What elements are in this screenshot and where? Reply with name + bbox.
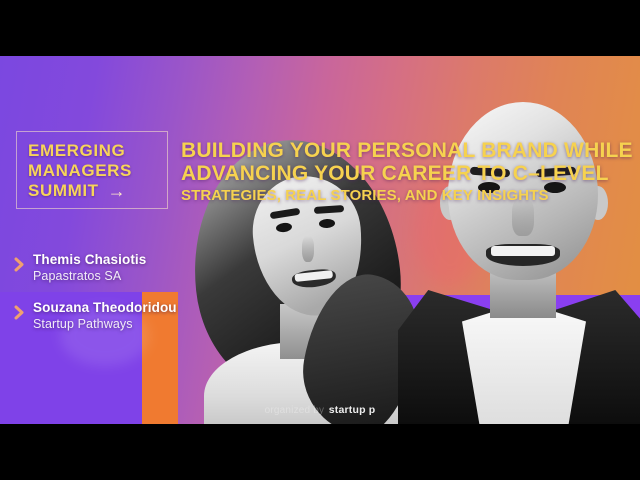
headline-line-1: BUILDING YOUR PERSONAL BRAND WHILE [181,140,621,163]
speaker-name: Souzana Theodoridou [33,300,177,316]
event-badge-line-1: EMERGING [28,141,167,161]
speakers-list: Themis Chasiotis Papastratos SA Souzana … [14,252,204,348]
letterbox-bar-top [0,0,640,56]
chevron-right-icon [14,305,25,320]
arrow-right-icon: → [108,182,126,200]
speaker-text-group: Souzana Theodoridou Startup Pathways [33,300,177,332]
photo-teeth [294,270,333,282]
speaker-item: Souzana Theodoridou Startup Pathways [14,300,204,332]
video-frame: EMERGING MANAGERS SUMMIT → BUILDING YOUR… [0,56,640,424]
event-badge-line-3-row: SUMMIT → [28,181,167,201]
speaker-text-group: Themis Chasiotis Papastratos SA [33,252,146,284]
photo-shirt [462,302,586,424]
speaker-organization: Startup Pathways [33,316,177,332]
speaker-item: Themis Chasiotis Papastratos SA [14,252,204,284]
letterbox-bar-bottom [0,424,640,480]
headline-subtitle: STRATEGIES, REAL STORIES, AND KEY INSIGH… [181,187,621,204]
headline-line-2: ADVANCING YOUR CAREER TO C–LEVEL [181,163,621,186]
video-player-stage: EMERGING MANAGERS SUMMIT → BUILDING YOUR… [0,0,640,480]
photo-mouth [486,244,560,266]
speaker-organization: Papastratos SA [33,268,146,284]
event-badge-line-2: MANAGERS [28,161,167,181]
event-badge-line-3: SUMMIT [28,181,99,201]
chevron-right-icon [14,257,25,272]
photo-nose [302,236,314,262]
headline-block: BUILDING YOUR PERSONAL BRAND WHILE ADVAN… [181,140,621,204]
speaker-name: Themis Chasiotis [33,252,146,268]
event-badge: EMERGING MANAGERS SUMMIT → [16,131,168,209]
photo-teeth [491,246,555,256]
